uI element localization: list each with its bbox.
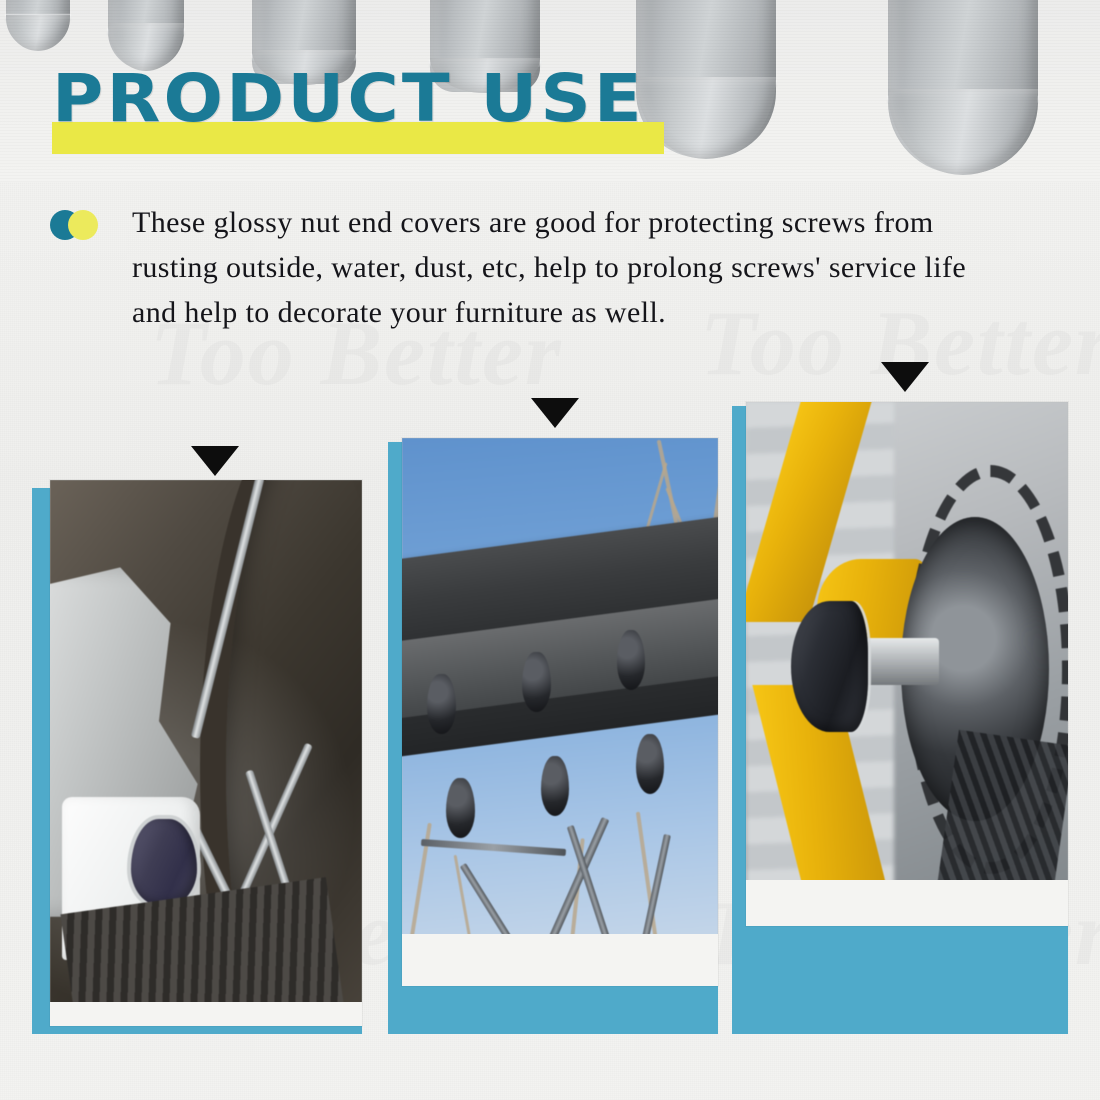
- description-line: rusting outside, water, dust, etc, help …: [132, 245, 1070, 290]
- description-paragraph: These glossy nut end covers are good for…: [132, 200, 1070, 335]
- nut-cap-6: [888, 0, 1038, 174]
- bullet-dots-icon: [50, 210, 112, 240]
- card-photo: [746, 402, 1068, 926]
- page-title-text: PRODUCT USE: [52, 64, 645, 134]
- down-arrow-icon: [191, 446, 239, 476]
- card-photo: [402, 438, 718, 986]
- description-line: These glossy nut end covers are good for…: [132, 200, 1070, 245]
- photo-bottom-strip: [50, 1002, 362, 1026]
- gallery-card-wheel-hub: [32, 446, 362, 1034]
- description-line: and help to decorate your furniture as w…: [132, 290, 1070, 335]
- photo-bottom-strip: [402, 934, 718, 986]
- bullet-dot-yellow: [68, 210, 98, 240]
- down-arrow-icon: [881, 362, 929, 392]
- card-photo: [50, 480, 362, 1026]
- description-block: These glossy nut end covers are good for…: [50, 200, 1070, 335]
- nut-cap-1: [6, 0, 70, 50]
- down-arrow-icon: [531, 398, 579, 428]
- gallery-card-bicycle: [732, 362, 1068, 1034]
- page-title: PRODUCT USE: [52, 64, 611, 156]
- photo-bottom-strip: [746, 880, 1068, 926]
- gallery-card-gazebo: [388, 398, 718, 1034]
